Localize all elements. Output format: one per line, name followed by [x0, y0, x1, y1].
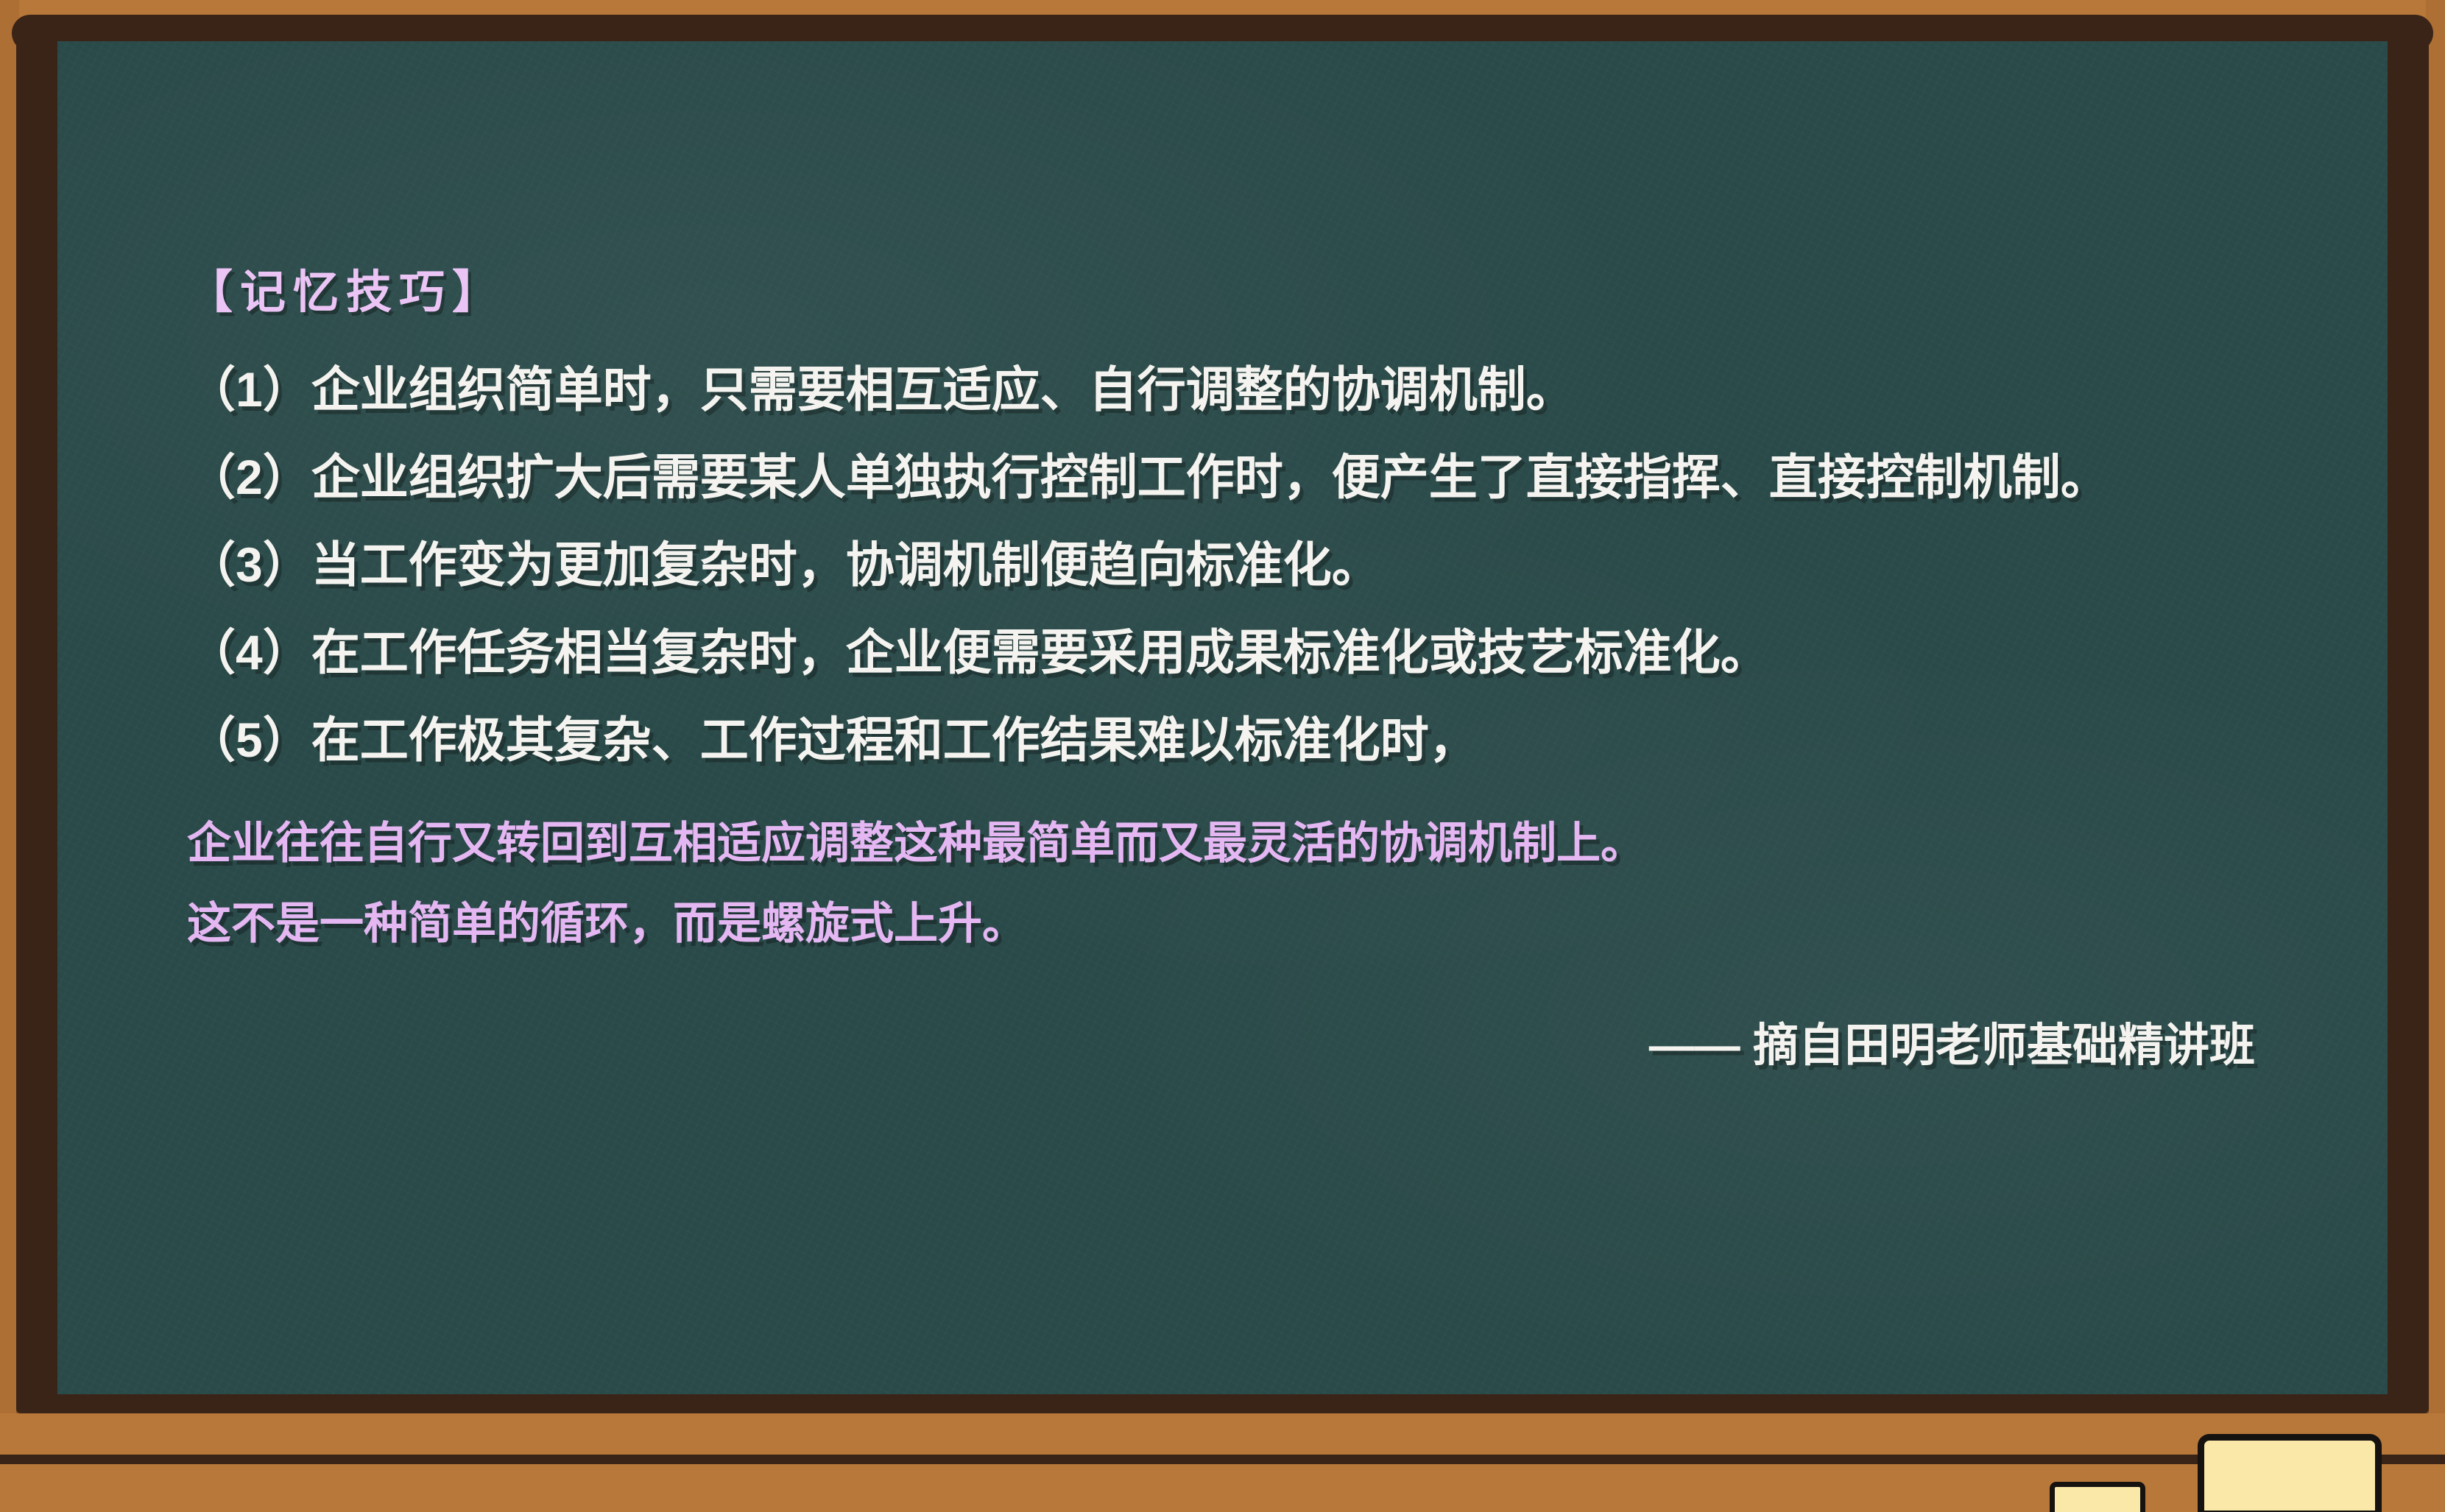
blackboard-surface: 【记忆技巧】 （1）企业组织简单时，只需要相互适应、自行调整的协调机制。 （2）… — [57, 41, 2388, 1394]
content-spacer — [187, 788, 2336, 808]
numbered-point-4: （4）在工作任务相当复杂时，企业便需要采用成果标准化或技艺标准化。 — [187, 613, 2336, 684]
blackboard-scene: 【记忆技巧】 （1）企业组织简单时，只需要相互适应、自行调整的协调机制。 （2）… — [0, 0, 2445, 1512]
numbered-point-1: （1）企业组织简单时，只需要相互适应、自行调整的协调机制。 — [187, 350, 2336, 421]
numbered-point-5: （5）在工作极其复杂、工作过程和工作结果难以标准化时， — [187, 701, 2336, 771]
memory-tips-title: 【记忆技巧】 — [187, 255, 2336, 321]
attribution-spacer — [187, 968, 2336, 1008]
numbered-point-3: （3）当工作变为更加复杂时，协调机制便趋向标准化。 — [187, 526, 2336, 596]
chalk-stick-icon[interactable] — [2050, 1482, 2145, 1512]
chalk-ledge-top — [0, 1413, 2445, 1455]
accent-line-2: 这不是一种简单的循环，而是螺旋式上升。 — [187, 888, 2336, 952]
frame-knob-right — [2393, 15, 2433, 52]
blackboard-frame: 【记忆技巧】 （1）企业组织简单时，只需要相互适应、自行调整的协调机制。 （2）… — [16, 15, 2429, 1413]
board-eraser-icon[interactable] — [2198, 1434, 2382, 1512]
frame-knob-left — [12, 15, 52, 52]
chalk-ledge-divider — [0, 1455, 2445, 1464]
board-content: 【记忆技巧】 （1）企业组织简单时，只需要相互适应、自行调整的协调机制。 （2）… — [187, 255, 2336, 1074]
accent-line-1: 企业往往自行又转回到互相适应调整这种最简单而又最灵活的协调机制上。 — [187, 808, 2336, 872]
numbered-point-2: （2）企业组织扩大后需要某人单独执行控制工作时，便产生了直接指挥、直接控制机制。 — [187, 438, 2336, 509]
source-attribution: —— 摘自田明老师基础精讲班 — [187, 1008, 2336, 1074]
